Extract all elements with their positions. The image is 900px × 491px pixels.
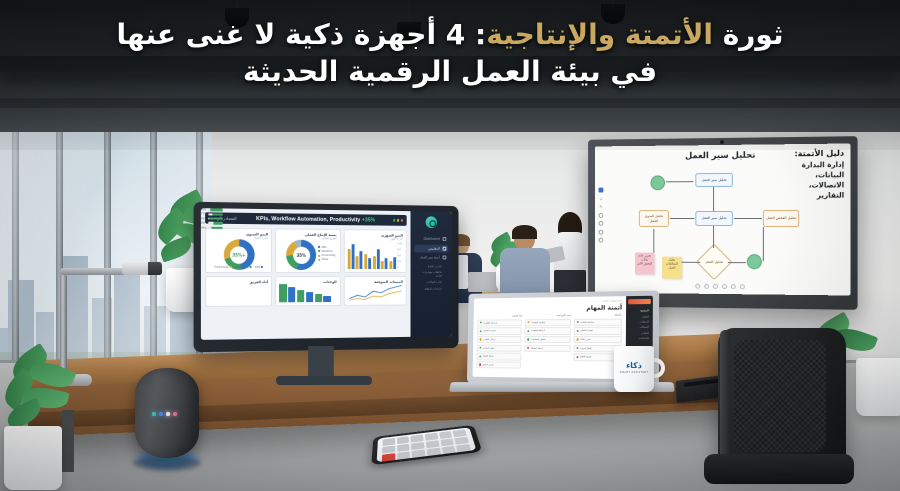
headline-line2: في بيئة العمل الرقمية الحديثة bbox=[26, 53, 874, 90]
eraser-tool-icon[interactable] bbox=[599, 221, 604, 226]
chair-seat bbox=[704, 454, 854, 484]
task-card: نسخ احتياطي bbox=[573, 327, 621, 335]
task-card: تصدير النتائج bbox=[476, 361, 521, 369]
flow-arrow bbox=[682, 262, 701, 263]
select-tool-icon[interactable] bbox=[599, 188, 604, 193]
kanban-column: تمت المراجعة معالجة الطلبات أرشفة الملفا… bbox=[524, 314, 571, 371]
column-header: تمت المراجعة bbox=[525, 314, 572, 317]
dock-grid-icon[interactable] bbox=[713, 283, 718, 288]
interactive-whiteboard[interactable]: تحليل سير العمل + ✎ تحليل سير العمل تحلي… bbox=[584, 138, 856, 308]
lamp-head[interactable] bbox=[122, 262, 162, 275]
pen-tool-icon[interactable]: ✎ bbox=[599, 204, 602, 209]
card-team-performance: أداء الفريق 84% 72% 91% 65% 78% bbox=[205, 276, 272, 307]
task-card: تحديث السجل bbox=[477, 327, 522, 334]
dock-menu-icon[interactable] bbox=[695, 283, 700, 288]
breadcrumb: لوحة المهام / الأتمتة bbox=[478, 299, 623, 304]
chair-mesh-panel bbox=[734, 340, 826, 452]
table-row: 78% bbox=[201, 226, 411, 232]
page-title: ثورة الأتمتة والإنتاجية: 4 أجهزة ذكية لا… bbox=[0, 16, 900, 90]
shape-tool-icon[interactable] bbox=[599, 213, 604, 218]
mesh-office-chair bbox=[694, 328, 884, 491]
note-line: التقارير bbox=[794, 190, 844, 200]
note-line: البيانات، bbox=[794, 170, 844, 181]
task-card: إرسال التقرير bbox=[477, 336, 522, 343]
pendant-light bbox=[232, 8, 242, 12]
sticky-note-pink: تحرير خانة بيانات التحقق الآلي bbox=[635, 253, 654, 275]
smart-speaker[interactable] bbox=[131, 368, 203, 472]
whiteboard-screen[interactable]: تحليل سير العمل + ✎ تحليل سير العمل تحلي… bbox=[595, 143, 851, 295]
task-card: تدقيق الحسابات bbox=[524, 336, 571, 343]
app-icon[interactable] bbox=[397, 436, 410, 444]
flow-node-end bbox=[747, 254, 762, 269]
hero-banner: تحليل سير العمل + ✎ تحليل سير العمل تحلي… bbox=[0, 0, 900, 491]
whiteboard-dock[interactable] bbox=[691, 282, 748, 291]
flow-arrow bbox=[653, 229, 654, 253]
task-card: معالجة الطلبات bbox=[524, 318, 571, 326]
speaker-shadow bbox=[133, 456, 201, 470]
flow-arrow bbox=[734, 218, 762, 219]
task-card: مزامنة البيانات bbox=[574, 318, 622, 326]
flow-node-decision: تحليل العمل bbox=[696, 244, 732, 281]
mug-label: ذكاء SMART ASSISTANT bbox=[614, 362, 654, 374]
task-card: تقرير الأداء bbox=[573, 336, 621, 344]
mug-label-arabic: ذكاء bbox=[614, 362, 654, 370]
brand-logo-icon bbox=[628, 299, 651, 304]
flow-arrow bbox=[713, 226, 714, 248]
led-blue-icon bbox=[159, 412, 163, 416]
note-line: إدارة البدارة bbox=[794, 159, 844, 170]
undo-tool-icon[interactable] bbox=[599, 229, 604, 234]
task-card: مراجعة الفاتورة bbox=[477, 319, 522, 326]
task-card: إشعار العملاء bbox=[524, 344, 571, 352]
monitor-stand bbox=[308, 346, 334, 380]
sticky-note-yellow: تحليل المعالجات العمل bbox=[662, 257, 682, 279]
headline-highlight: الأتمتة والإنتاجية bbox=[486, 18, 713, 51]
column-header: قيد التنفيذ bbox=[477, 314, 522, 317]
chair-frame-edge bbox=[720, 330, 730, 462]
dock-share-icon[interactable] bbox=[731, 284, 736, 289]
task-card: أرشفة الملفات bbox=[524, 327, 571, 334]
ceiling-beam-secondary bbox=[0, 98, 900, 108]
dashboard-card-grid: النمو الشهري آخر 6 أشهر 1200900 600300 0 bbox=[205, 227, 407, 306]
flow-node-start bbox=[650, 175, 665, 190]
headline-line1: ثورة الأتمتة والإنتاجية: 4 أجهزة ذكية لا… bbox=[116, 18, 783, 51]
whiteboard-toolbar[interactable]: + ✎ bbox=[599, 188, 604, 243]
whiteboard-camera-icon bbox=[720, 140, 724, 144]
flow-arrow bbox=[728, 262, 746, 263]
performance-table: 84% 72% 91% 65% 78% bbox=[201, 208, 411, 340]
curved-monitor[interactable]: Dashboard المقاييس أتمتة سير العمل تقاري… bbox=[196, 204, 464, 370]
whiteboard-side-note: دليل الأتمتة: إدارة البدارة البيانات، ال… bbox=[794, 148, 844, 201]
more-tool-icon[interactable] bbox=[599, 238, 604, 243]
kanban-column: قيد التنفيذ مراجعة الفاتورة تحديث السجل … bbox=[476, 314, 522, 370]
dock-home-icon[interactable] bbox=[740, 284, 745, 289]
flow-arrow bbox=[713, 187, 714, 211]
column-header: مكتملة bbox=[574, 314, 622, 317]
flow-arrow bbox=[670, 218, 694, 219]
flow-node-2: تحليل سير العمل bbox=[695, 211, 733, 226]
flow-node-4: تحليل الفحص العمل bbox=[763, 210, 799, 227]
task-card: تحليل البيانات bbox=[477, 344, 522, 351]
page-title: أتمتة المهام bbox=[477, 304, 622, 312]
led-white-icon bbox=[166, 412, 170, 416]
flow-arrow bbox=[763, 227, 764, 261]
speaker-led-indicators bbox=[152, 412, 177, 416]
coffee-mug: ذكاء SMART ASSISTANT bbox=[614, 346, 664, 394]
task-card: جدولة المهام bbox=[477, 353, 522, 361]
flow-arrow bbox=[666, 181, 693, 182]
dock-save-icon[interactable] bbox=[722, 284, 727, 289]
dashboard-main: KPIs, Workflow Automation, Productivity … bbox=[201, 208, 411, 340]
note-heading: دليل الأتمتة: bbox=[794, 148, 844, 160]
led-teal-icon bbox=[152, 412, 156, 416]
mug-label-latin: SMART ASSISTANT bbox=[614, 370, 654, 374]
plant-foreground-left bbox=[0, 352, 74, 491]
kanban-board: مكتملة مزامنة البيانات نسخ احتياطي تقرير… bbox=[476, 314, 622, 372]
laptop-nav-item[interactable]: الإعدادات bbox=[628, 336, 651, 342]
dock-settings-icon[interactable] bbox=[704, 283, 709, 288]
flow-node-3: تحليل اليدوي العمل bbox=[639, 210, 669, 227]
laptop-main: لوحة المهام / الأتمتة أتمتة المهام مكتمل… bbox=[473, 296, 627, 379]
add-tool-icon[interactable]: + bbox=[599, 196, 602, 201]
note-line: الاتصالات، bbox=[794, 180, 844, 191]
flow-node-1: تحليل سير العمل bbox=[695, 173, 733, 187]
monitor-base bbox=[276, 376, 372, 385]
led-pink-icon bbox=[173, 412, 177, 416]
pendant-light bbox=[608, 4, 618, 8]
monitor-screen[interactable]: Dashboard المقاييس أتمتة سير العمل تقاري… bbox=[201, 208, 452, 340]
